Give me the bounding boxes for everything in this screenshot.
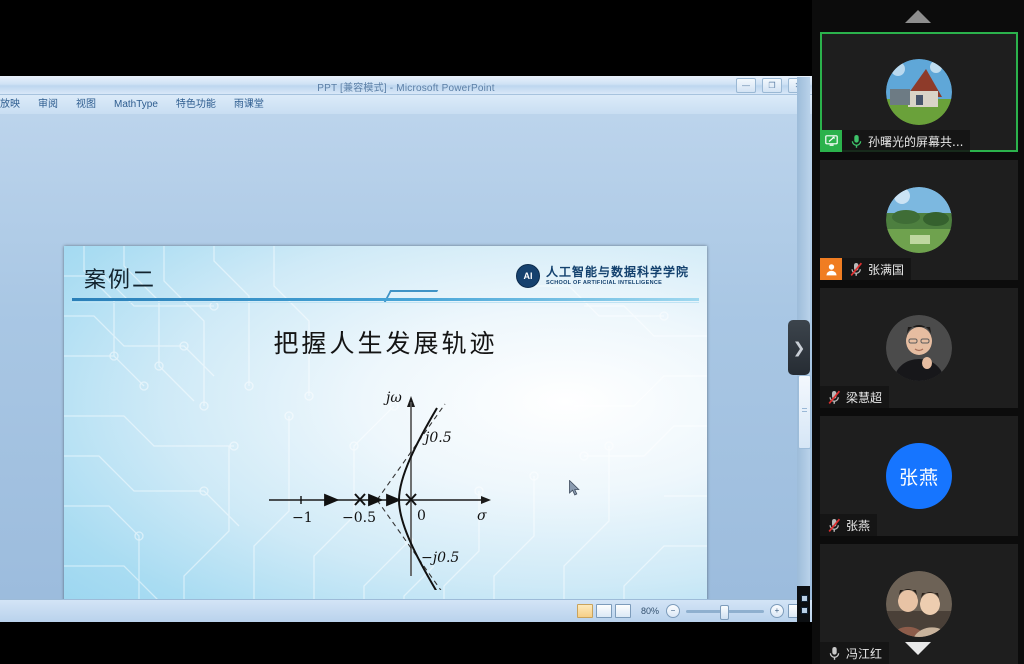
y-tick-j0.5: j0.5 [422,430,452,446]
avatar [886,571,952,637]
window-title: PPT [兼容模式] - Microsoft PowerPoint [0,79,812,94]
mic-status-icon [824,390,844,405]
scrollbar-bottom-cap [797,586,810,622]
powerpoint-window: PPT [兼容模式] - Microsoft PowerPoint — ❐ ✕ [0,76,812,622]
axis-label-sigma: σ [477,508,487,524]
screen-share-icon [825,135,838,147]
mic-status-icon [846,134,866,149]
mic-status-icon [824,518,844,533]
participant-name: 孙曙光的屏幕共... [868,133,963,150]
chevron-right-icon: ❯ [793,339,806,357]
zoom-in-button[interactable]: + [770,604,784,618]
zoom-slider-thumb[interactable] [720,605,729,620]
view-slideshow-button[interactable] [615,604,631,618]
scroll-up-button[interactable] [812,0,1024,32]
participant-tile[interactable]: 张满国 [820,160,1018,280]
participant-tiles: 孙曙光的屏幕共... [812,32,1024,632]
scroll-down-button[interactable] [812,632,1024,664]
window-title-bar: PPT [兼容模式] - Microsoft PowerPoint — ❐ ✕ [0,76,812,95]
participant-tile[interactable]: 张燕 张燕 [820,416,1018,536]
axis-label-jomega: jω [383,390,402,406]
restore-button[interactable]: ❐ [762,78,782,93]
zoom-slider[interactable] [686,610,764,613]
ribbon-tab-rain-classroom[interactable]: 雨课堂 [225,95,273,115]
zoom-level-label: 80% [641,606,659,616]
logo-text-en: SCHOOL OF ARTIFICIAL INTELLIGENCE [546,280,689,286]
participant-name: 张满国 [868,261,904,278]
x-tick--1: −1 [292,510,313,526]
restore-icon: ❐ [768,82,775,90]
chevron-down-icon [905,642,931,655]
panel-expand-button[interactable]: ❯ [788,320,810,375]
view-normal-button[interactable] [577,604,593,618]
ribbon-tab-review[interactable]: 审阅 [29,95,67,115]
y-tick--j0.5: −j0.5 [421,550,459,566]
zoom-out-button[interactable]: − [666,604,680,618]
ribbon-tab-features[interactable]: 特色功能 [167,95,225,115]
avatar-photo-house-icon [886,59,952,125]
chevron-up-icon [905,10,931,23]
person-icon [825,263,838,276]
slide-editing-area[interactable]: 案例二 AI 人工智能与数据科学学院 SCHOOL OF ARTIFICIAL … [0,114,812,600]
screen-share-badge [820,130,842,152]
view-sorter-button[interactable] [596,604,612,618]
x-tick--0.5: −0.5 [342,510,376,526]
participant-name: 梁慧超 [846,389,882,406]
shared-screen-region: PPT [兼容模式] - Microsoft PowerPoint — ❐ ✕ [0,0,812,664]
x-tick-0: 0 [417,508,426,524]
scrollbar-thumb[interactable] [798,375,811,449]
logo-mark-icon: AI [516,264,540,288]
avatar-initials: 张燕 [886,443,952,509]
participant-name-bar: 梁慧超 [820,386,889,408]
avatar [886,315,952,381]
ribbon-tab-mathtype[interactable]: MathType [105,95,167,115]
powerpoint-status-bar: 80% − + [0,599,812,622]
participant-name-bar: 孙曙光的屏幕共... [820,130,970,152]
avatar-photo-landscape-icon [886,187,952,253]
title-divider [72,298,699,301]
logo-text-cn: 人工智能与数据科学学院 [546,266,689,279]
title-divider-thin [72,302,699,303]
mouse-cursor [569,480,581,496]
minimize-icon: — [742,82,750,90]
mic-status-icon [846,262,866,277]
slide-heading[interactable]: 把握人生发展轨迹 [64,324,707,360]
user-badge [820,258,842,280]
participant-name: 张燕 [846,517,870,534]
avatar [886,187,952,253]
participant-name-bar: 张燕 [820,514,877,536]
ribbon-tab-slideshow[interactable]: 放映 [0,95,29,115]
avatar-initials-text: 张燕 [899,463,939,490]
screen: PPT [兼容模式] - Microsoft PowerPoint — ❐ ✕ [0,0,1024,664]
ribbon-tab-bar: 放映 审阅 视图 MathType 特色功能 雨课堂 [0,95,812,116]
participant-name-bar: 张满国 [820,258,911,280]
root-locus-figure[interactable]: jω σ −1 −0.5 0 j0.5 −j0.5 [259,380,509,590]
school-logo: AI 人工智能与数据科学学院 SCHOOL OF ARTIFICIAL INTE… [516,264,689,288]
next-slide-button[interactable] [801,607,808,614]
avatar-photo-group-icon [886,571,952,637]
ribbon-tab-view[interactable]: 视图 [67,95,105,115]
slide-canvas[interactable]: 案例二 AI 人工智能与数据科学学院 SCHOOL OF ARTIFICIAL … [64,246,707,617]
avatar [886,59,952,125]
participants-strip: 孙曙光的屏幕共... [812,0,1024,664]
minimize-button[interactable]: — [736,78,756,93]
avatar-photo-person-icon [886,315,952,381]
participant-tile[interactable]: 孙曙光的屏幕共... [820,32,1018,152]
participant-tile[interactable]: 梁慧超 [820,288,1018,408]
slide-title[interactable]: 案例二 [84,262,156,294]
previous-slide-button[interactable] [801,595,808,602]
